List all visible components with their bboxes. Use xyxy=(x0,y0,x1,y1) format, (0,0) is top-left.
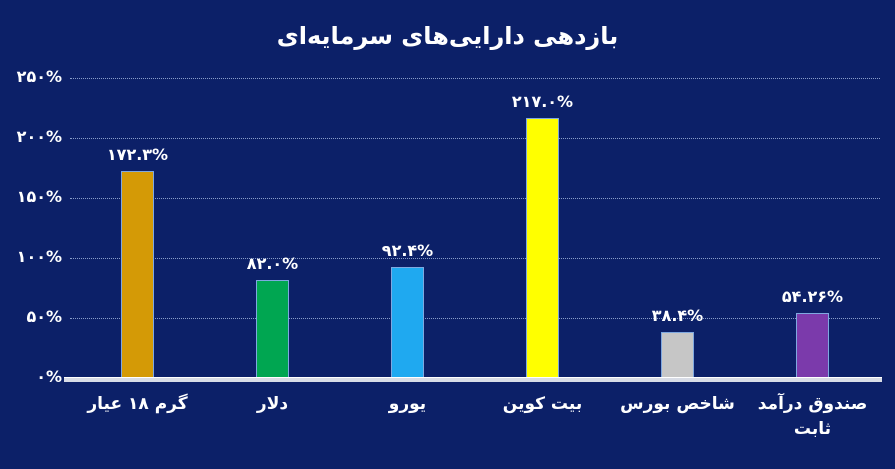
chart-title: بازدهی دارایی‌های سرمایه‌ای xyxy=(0,22,895,50)
gridline xyxy=(70,198,880,199)
y-axis-tick-label: ۵۰% xyxy=(0,307,62,326)
x-axis-category-line: شاخص بورس xyxy=(603,392,753,417)
x-axis-category-label: بیت کوین xyxy=(468,392,618,417)
bar-value-label: ۵۴.۲۶% xyxy=(753,287,873,306)
gridline xyxy=(70,318,880,319)
y-axis-tick-label: ۰% xyxy=(0,367,62,386)
plot-area xyxy=(70,78,880,378)
bar-value-label: ۲۱۷.۰% xyxy=(483,92,603,111)
x-axis-category-label: صندوق درآمدثابت xyxy=(738,392,888,441)
x-axis-category-label: یورو xyxy=(333,392,483,417)
bar-value-label: ۳۸.۴% xyxy=(618,306,738,325)
bar[interactable] xyxy=(121,171,154,378)
gridline xyxy=(70,78,880,79)
bar[interactable] xyxy=(526,118,559,378)
x-axis-category-label: گرم ۱۸ عیار xyxy=(63,392,213,417)
bar[interactable] xyxy=(391,267,424,378)
x-axis-category-line: یورو xyxy=(333,392,483,417)
bar[interactable] xyxy=(796,313,829,378)
y-axis-tick-label: ۱۰۰% xyxy=(0,247,62,266)
y-axis-tick-label: ۱۵۰% xyxy=(0,187,62,206)
x-axis-category-line: بیت کوین xyxy=(468,392,618,417)
x-axis-category-label: دلار xyxy=(198,392,348,417)
x-axis-category-line: صندوق درآمد xyxy=(738,392,888,417)
x-axis-line xyxy=(64,377,882,382)
x-axis-category-label: شاخص بورس xyxy=(603,392,753,417)
y-axis-tick-label: ۲۰۰% xyxy=(0,127,62,146)
x-axis-category-line: گرم ۱۸ عیار xyxy=(63,392,213,417)
bar-value-label: ۹۲.۴% xyxy=(348,241,468,260)
bar-value-label: ۸۲.۰% xyxy=(213,254,333,273)
chart-canvas: بازدهی دارایی‌های سرمایه‌ای ۲۵۰%۲۰۰%۱۵۰%… xyxy=(0,0,895,469)
bar[interactable] xyxy=(661,332,694,378)
x-axis-category-line: دلار xyxy=(198,392,348,417)
x-axis-category-line: ثابت xyxy=(738,417,888,442)
y-axis-tick-label: ۲۵۰% xyxy=(0,67,62,86)
gridline xyxy=(70,138,880,139)
gridline xyxy=(70,258,880,259)
bar-value-label: ۱۷۲.۳% xyxy=(78,145,198,164)
bar[interactable] xyxy=(256,280,289,378)
